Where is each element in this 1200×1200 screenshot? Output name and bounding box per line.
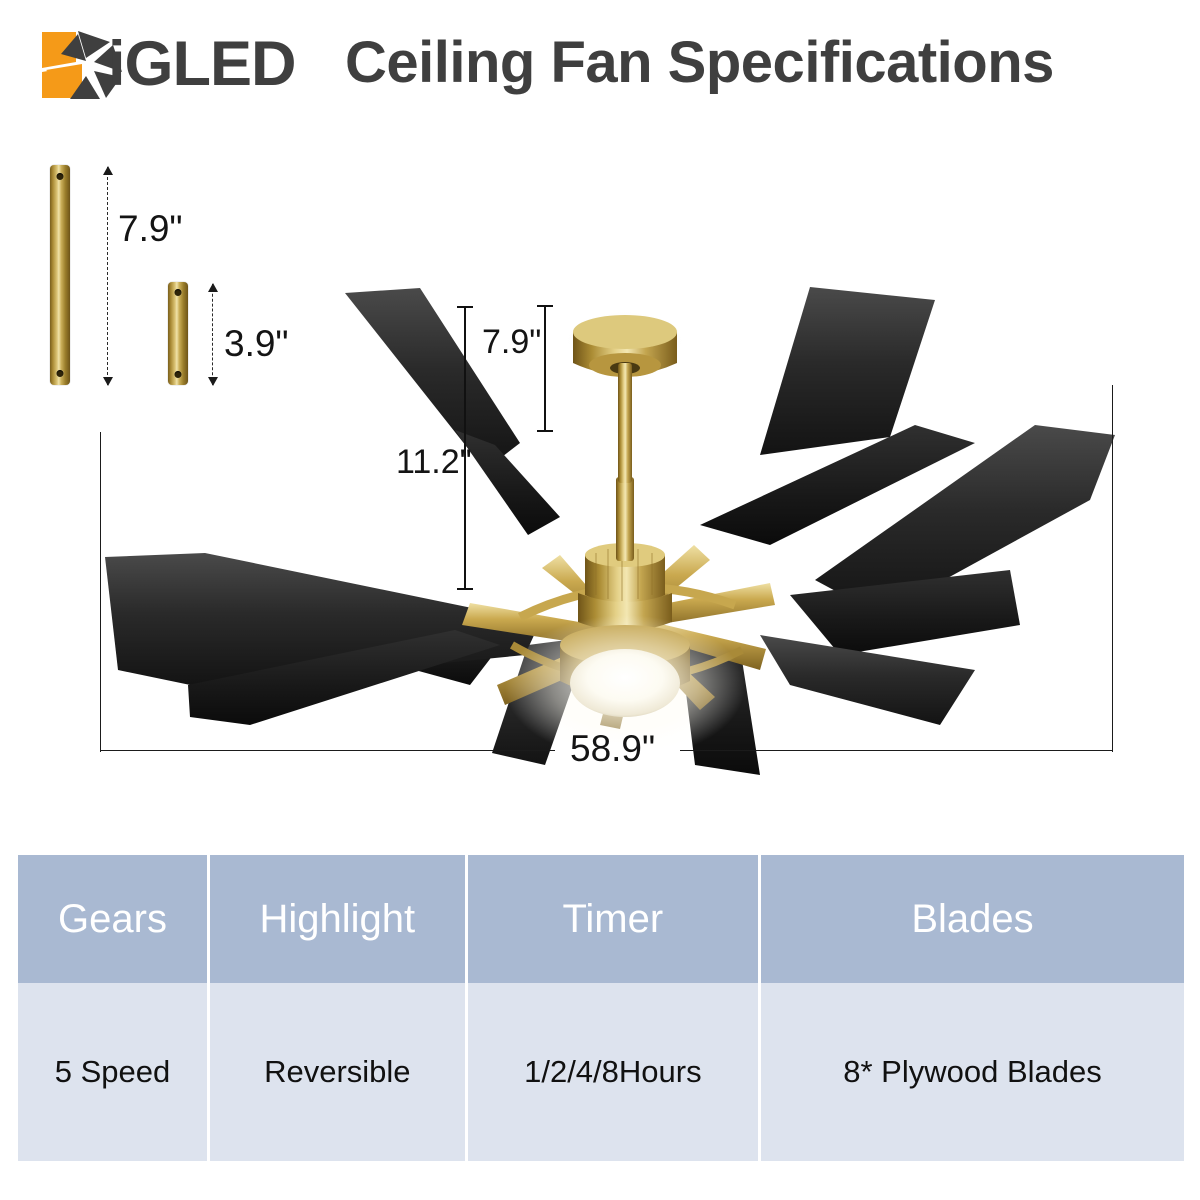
table-header-row: Gears Highlight Timer Blades bbox=[18, 855, 1184, 983]
column-header-timer: Timer bbox=[468, 855, 758, 983]
table-row: 5 Speed Reversible 1/2/4/8Hours 8* Plywo… bbox=[18, 983, 1184, 1161]
canopy-drop-dimension-label: 7.9" bbox=[482, 325, 541, 359]
cell-timer: 1/2/4/8Hours bbox=[468, 983, 758, 1161]
specifications-table: Gears Highlight Timer Blades 5 Speed Rev… bbox=[15, 855, 1187, 1161]
ceiling-canopy bbox=[573, 315, 677, 483]
width-extension-line-right bbox=[1112, 385, 1113, 752]
cell-gears: 5 Speed bbox=[18, 983, 207, 1161]
overall-height-dimension-label: 11.2" bbox=[396, 445, 472, 479]
canopy-drop-dimension-line bbox=[544, 305, 546, 432]
width-extension-line-left bbox=[100, 432, 101, 752]
cell-highlight: Reversible bbox=[210, 983, 465, 1161]
width-dimension-line-right bbox=[680, 750, 1113, 751]
column-header-highlight: Highlight bbox=[210, 855, 465, 983]
width-dimension-line-left bbox=[100, 750, 555, 751]
column-header-gears: Gears bbox=[18, 855, 207, 983]
blade-span-dimension-label: 58.9" bbox=[570, 730, 655, 767]
page-title: Ceiling Fan Specifications bbox=[345, 34, 1054, 92]
brand-name: iGLED bbox=[108, 33, 296, 96]
column-header-blades: Blades bbox=[761, 855, 1184, 983]
page-header: iGLED Ceiling Fan Specifications bbox=[0, 0, 1200, 125]
cell-blades: 8* Plywood Blades bbox=[761, 983, 1184, 1161]
led-light bbox=[570, 649, 680, 717]
product-figure: 7.9" 3.9" bbox=[0, 125, 1200, 825]
ceiling-fan-illustration bbox=[0, 125, 1200, 825]
installed-downrod bbox=[616, 477, 634, 561]
